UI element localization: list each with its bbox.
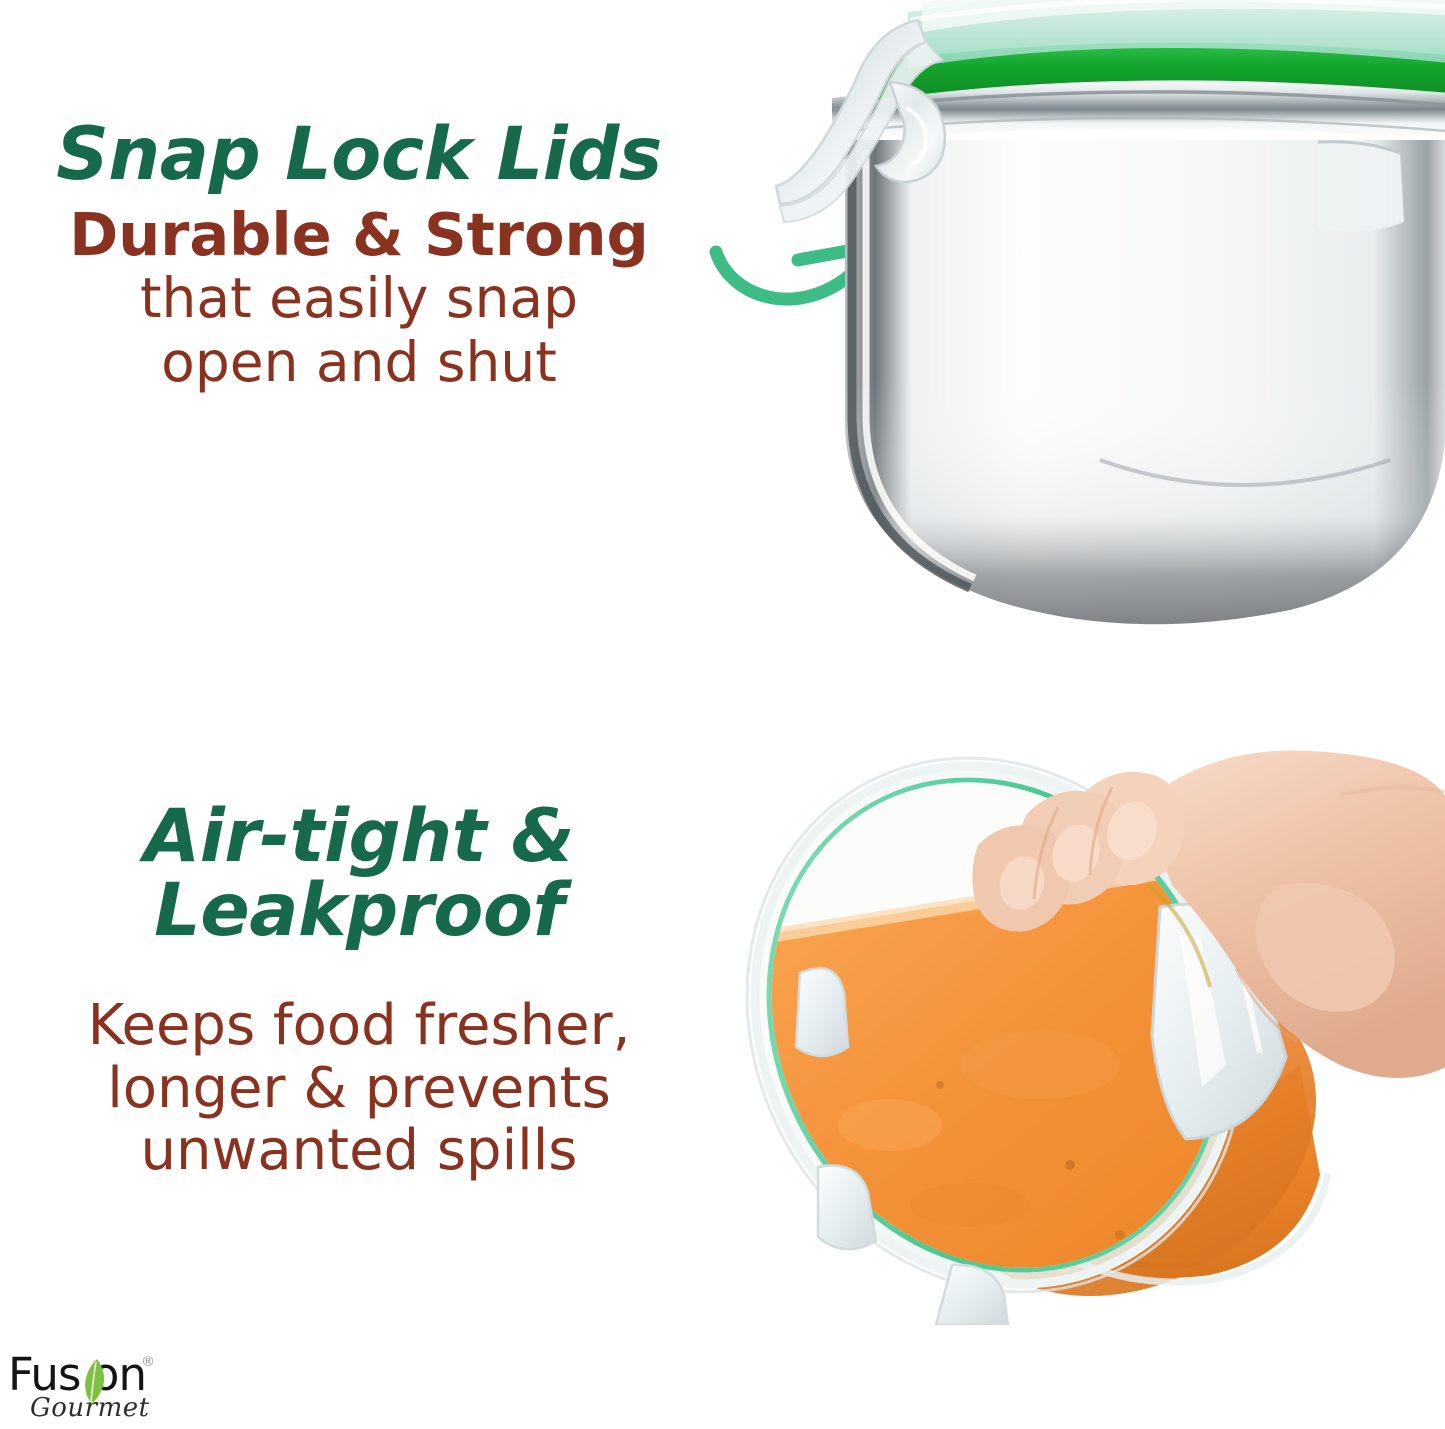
brand-tagline: Gourmet (30, 1393, 150, 1423)
feature-body-line-1: that easily snap (0, 268, 718, 330)
registered-trademark-symbol: ® (141, 1354, 155, 1370)
feature-text-air-tight: Air-tight & Leakproof Keeps food fresher… (0, 800, 718, 1183)
brand-logo: Fusion ® Gourmet (8, 1352, 238, 1424)
brand-name: Fusion (8, 1352, 146, 1397)
feature-body-line-3: unwanted spills (0, 1120, 718, 1183)
feature-subhead-durable-strong: Durable & Strong (0, 204, 718, 266)
feature-body-line-2: open and shut (0, 332, 718, 394)
product-image-tilted-container-with-hand (740, 735, 1445, 1325)
feature-text-snap-lock: Snap Lock Lids Durable & Strong that eas… (0, 118, 718, 394)
feature-body-line-1: Keeps food fresher, (0, 995, 718, 1058)
product-feature-infographic: Snap Lock Lids Durable & Strong that eas… (0, 0, 1445, 1429)
feature-headline-air-tight-line-1: Air-tight & (0, 800, 718, 874)
feature-body-line-2: longer & prevents (0, 1058, 718, 1121)
feature-headline-snap-lock: Snap Lock Lids (0, 118, 718, 192)
feature-headline-air-tight-line-2: Leakproof (0, 874, 718, 948)
product-image-glass-container-snap-lid (770, 0, 1445, 680)
